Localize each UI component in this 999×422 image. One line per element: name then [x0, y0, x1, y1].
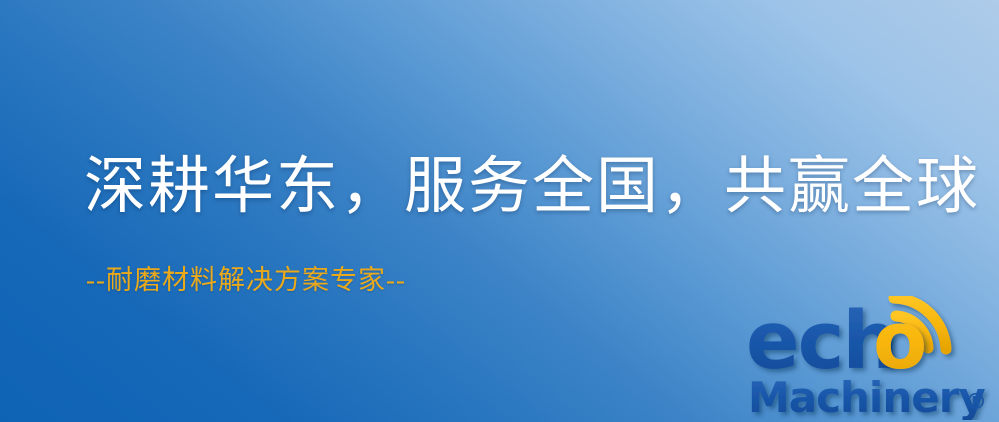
company-logo[interactable]: ech o Machinery ®: [746, 296, 994, 420]
registered-trademark-icon: ®: [965, 390, 987, 415]
logo-machinery-text: Machinery: [748, 373, 985, 420]
page-title: 深耕华东，服务全国，共赢全球: [84, 148, 980, 226]
hero-banner: 深耕华东，服务全国，共赢全球 --耐磨材料解决方案专家--: [0, 0, 999, 422]
page-subtitle: --耐磨材料解决方案专家--: [86, 263, 406, 297]
